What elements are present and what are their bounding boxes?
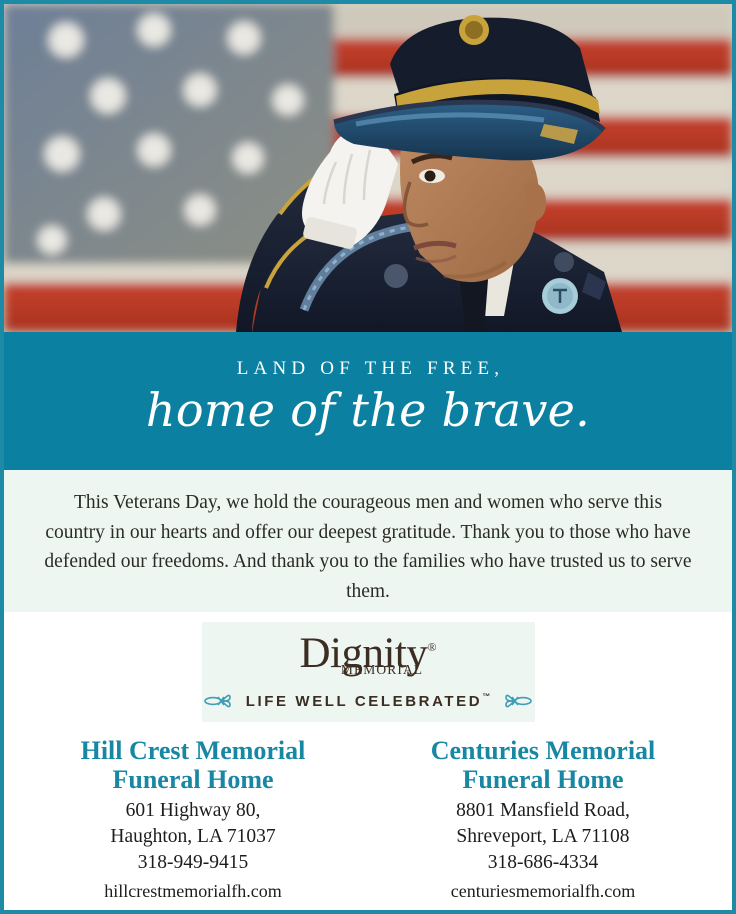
location-name-line1: Hill Crest Memorial xyxy=(81,736,306,765)
headline-script: home of the brave. xyxy=(24,383,712,437)
butterfly-flourish-left-icon xyxy=(204,688,234,714)
brand-logo-zone: Dignity® MEMORIAL LIFE WELL CELEBRATED™ xyxy=(4,612,732,722)
headline-kicker: LAND OF THE FREE, xyxy=(24,358,712,381)
location-name-line2: Funeral Home xyxy=(462,765,623,794)
location-name-line1: Centuries Memorial xyxy=(431,736,656,765)
registered-trademark-icon: ® xyxy=(427,640,436,654)
locations-row: Hill Crest Memorial Funeral Home 601 Hig… xyxy=(4,722,732,904)
location-name-line2: Funeral Home xyxy=(112,765,273,794)
location-address-line1: 8801 Mansfield Road, xyxy=(368,798,718,824)
soldier-flag-illustration xyxy=(4,4,732,332)
location-address-line2: Shreveport, LA 71108 xyxy=(368,824,718,850)
dignity-wordmark-subtext: MEMORIAL xyxy=(202,663,535,677)
location-phone[interactable]: 318-686-4334 xyxy=(368,850,718,876)
location-name: Centuries Memorial Funeral Home xyxy=(368,736,718,794)
location-website[interactable]: centuriesmemorialfh.com xyxy=(368,879,718,904)
hero-photo-soldier-saluting xyxy=(4,4,732,332)
dignity-memorial-logo-panel: Dignity® MEMORIAL LIFE WELL CELEBRATED™ xyxy=(202,622,535,722)
location-website[interactable]: hillcrestmemorialfh.com xyxy=(18,879,368,904)
location-phone[interactable]: 318-949-9415 xyxy=(18,850,368,876)
trademark-icon: ™ xyxy=(482,692,490,701)
message-body: This Veterans Day, we hold the courageou… xyxy=(42,488,694,607)
location-hill-crest-memorial: Hill Crest Memorial Funeral Home 601 Hig… xyxy=(18,736,368,904)
location-name: Hill Crest Memorial Funeral Home xyxy=(18,736,368,794)
tagline-row: LIFE WELL CELEBRATED™ xyxy=(202,688,535,714)
headline-banner: LAND OF THE FREE, home of the brave. xyxy=(4,332,732,470)
butterfly-flourish-right-icon xyxy=(502,688,532,714)
location-address-line1: 601 Highway 80, xyxy=(18,798,368,824)
message-band: This Veterans Day, we hold the courageou… xyxy=(4,470,732,612)
dignity-wordmark: Dignity® MEMORIAL xyxy=(202,630,535,682)
location-centuries-memorial: Centuries Memorial Funeral Home 8801 Man… xyxy=(368,736,718,904)
veterans-day-advertisement: LAND OF THE FREE, home of the brave. Thi… xyxy=(0,0,736,914)
tagline-text: LIFE WELL CELEBRATED™ xyxy=(246,692,490,710)
tagline-words: LIFE WELL CELEBRATED xyxy=(246,693,482,710)
location-address-line2: Haughton, LA 71037 xyxy=(18,824,368,850)
